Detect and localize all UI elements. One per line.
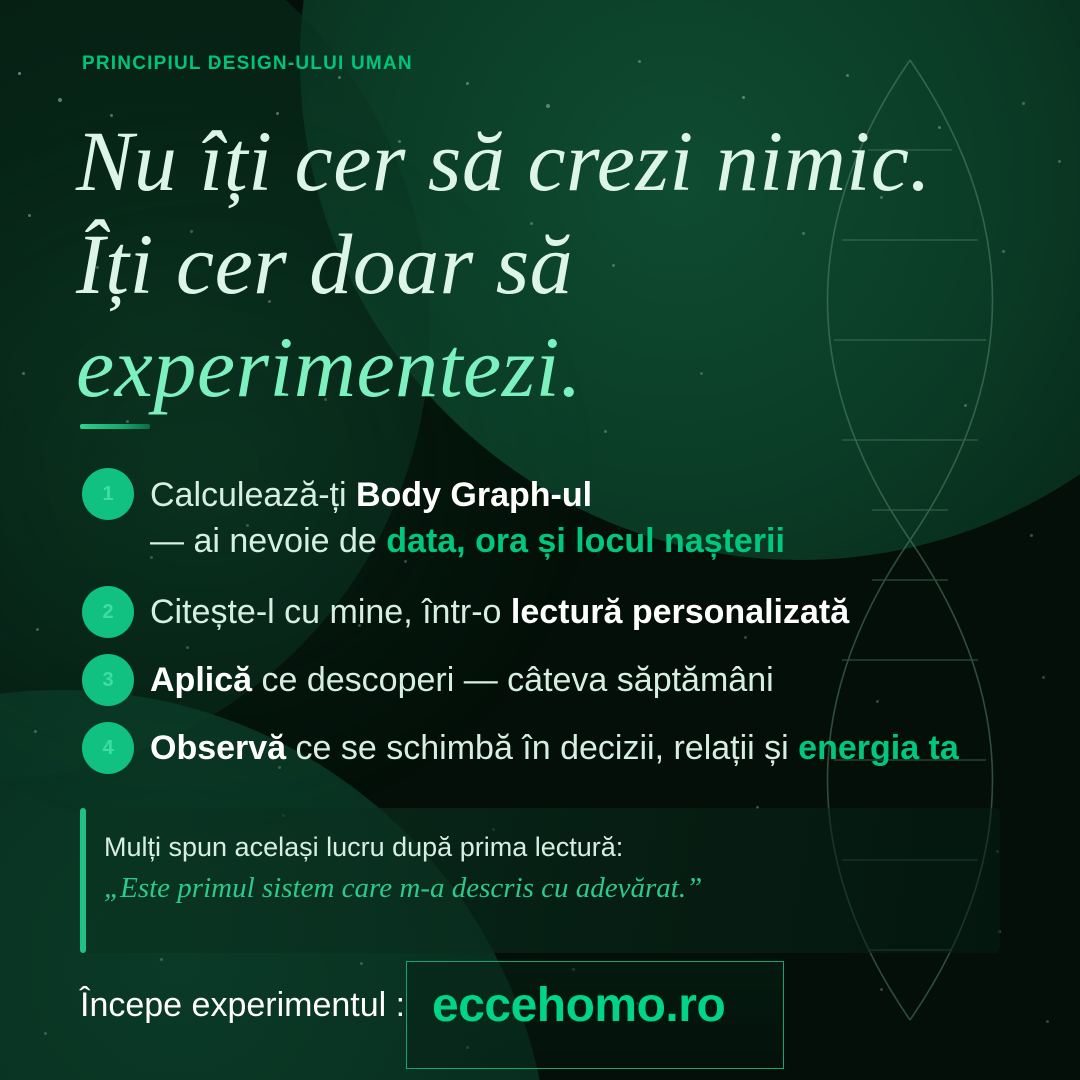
step-text-2: Citește-l cu mine, într-o lectură person… — [150, 589, 849, 635]
step-3-bold: Aplică — [150, 661, 252, 699]
step-1-line-2-pre: — ai nevoie de — [150, 522, 386, 560]
step-text-1: Calculează-ți Body Graph-ul — ai nevoie … — [150, 472, 785, 564]
poster-content: PRINCIPIUL DESIGN-ULUI UMAN Nu îți cer s… — [0, 0, 1080, 1080]
step-1-line-1: Calculează-ți Body Graph-ul — [150, 472, 785, 518]
step-badge-3: 3 — [82, 654, 134, 706]
quote-lead-text: Mulți spun același lucru după prima lect… — [104, 832, 623, 863]
step-1-line-2: — ai nevoie de data, ora și locul nașter… — [150, 518, 785, 564]
poster-canvas: PRINCIPIUL DESIGN-ULUI UMAN Nu îți cer s… — [0, 0, 1080, 1080]
step-2-bold: lectură personalizată — [511, 593, 849, 631]
accent-underline — [80, 424, 150, 429]
step-1-line-1-bold: Body Graph-ul — [356, 476, 592, 514]
cta-lead-text: Începe experimentul : — [80, 986, 405, 1025]
step-text-4: Observă ce se schimbă în decizii, relați… — [150, 725, 959, 771]
top-accent-bar — [0, 0, 1080, 8]
step-1-line-1-pre: Calculează-ți — [150, 476, 356, 514]
quote-accent-bar — [80, 808, 86, 953]
step-4-bold: Observă — [150, 729, 286, 767]
step-2-pre: Citește-l cu mine, într-o — [150, 593, 511, 631]
headline-line-2: Îți cer doar să — [76, 213, 1080, 316]
headline: Nu îți cer să crezi nimic. Îți cer doar … — [76, 110, 1080, 419]
step-1-line-2-highlight: data, ora și locul nașterii — [386, 522, 785, 560]
step-badge-2: 2 — [82, 586, 134, 638]
step-4-post: ce se schimbă în decizii, relații și — [286, 729, 798, 767]
step-3-post: ce descoperi — câteva săptămâni — [252, 661, 774, 699]
step-badge-4: 4 — [82, 722, 134, 774]
step-badge-1: 1 — [82, 468, 134, 520]
cta-url-link[interactable]: eccehomo.ro — [432, 978, 725, 1033]
step-4-highlight: energia ta — [798, 729, 959, 767]
step-text-3: Aplică ce descoperi — câteva săptămâni — [150, 657, 774, 703]
headline-line-1: Nu îți cer să crezi nimic. — [76, 110, 1080, 213]
quote-testimonial-text: „Este primul sistem care m-a descris cu … — [104, 872, 702, 905]
kicker-label: PRINCIPIUL DESIGN-ULUI UMAN — [82, 53, 413, 75]
headline-line-3: experimentezi. — [76, 316, 1080, 419]
